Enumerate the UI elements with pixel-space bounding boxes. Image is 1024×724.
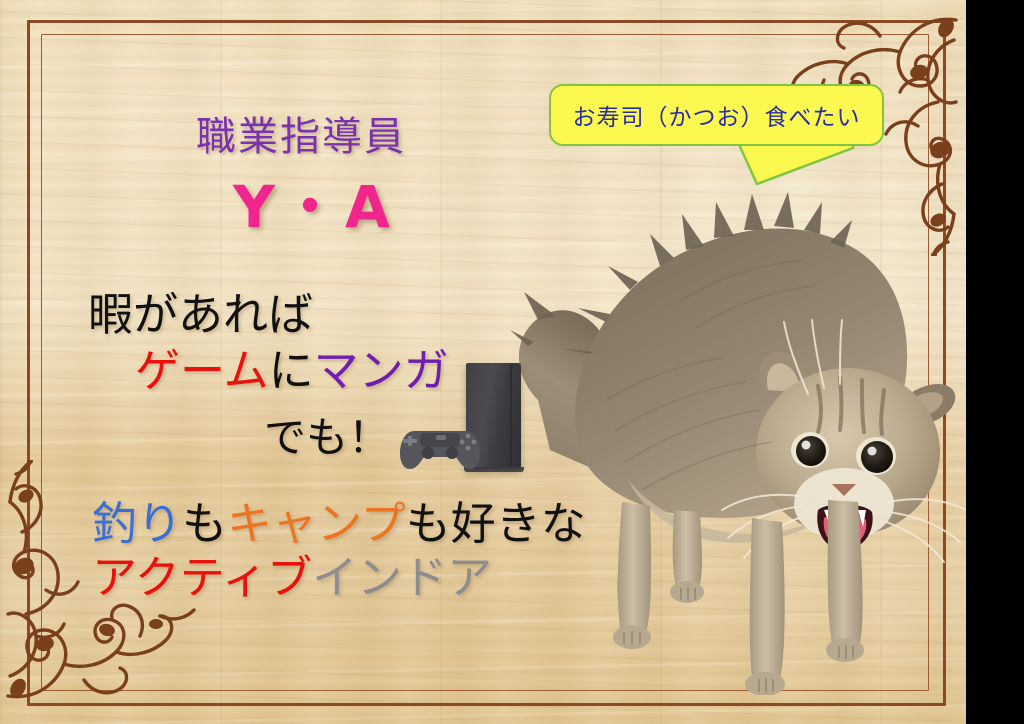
presentation-slide: 職業指導員 Y・A 暇があれば ゲームにマンガ でも！ 釣りもキャンプも好きな … [0, 0, 966, 724]
speech-bubble: お寿司（かつお）食べたい [549, 84, 884, 146]
hobby-game-word: ゲーム [135, 344, 269, 397]
ps4-console-stripe [510, 365, 512, 467]
hissing-cat-photo [510, 150, 966, 695]
slide-stage: 職業指導員 Y・A 暇があれば ゲームにマンガ でも！ 釣りもキャンプも好きな … [0, 0, 1024, 724]
letterbox-right [966, 0, 1024, 724]
hobby-line-2: ゲームにマンガ [135, 334, 449, 399]
hobby-ni-particle: に [269, 344, 314, 397]
active-line-2: アクティブインドア [92, 541, 492, 606]
active-word: アクティブ [92, 551, 312, 604]
page-title: 職業指導員 [196, 104, 406, 162]
initials-text: Y・A [233, 160, 396, 244]
speech-bubble-text: お寿司（かつお）食べたい [573, 98, 861, 132]
demo-line: でも！ [264, 404, 390, 465]
indoor-word: インドア [312, 551, 492, 604]
ps4-controller-icon [398, 423, 482, 471]
hobby-manga-word: マンガ [314, 344, 449, 397]
